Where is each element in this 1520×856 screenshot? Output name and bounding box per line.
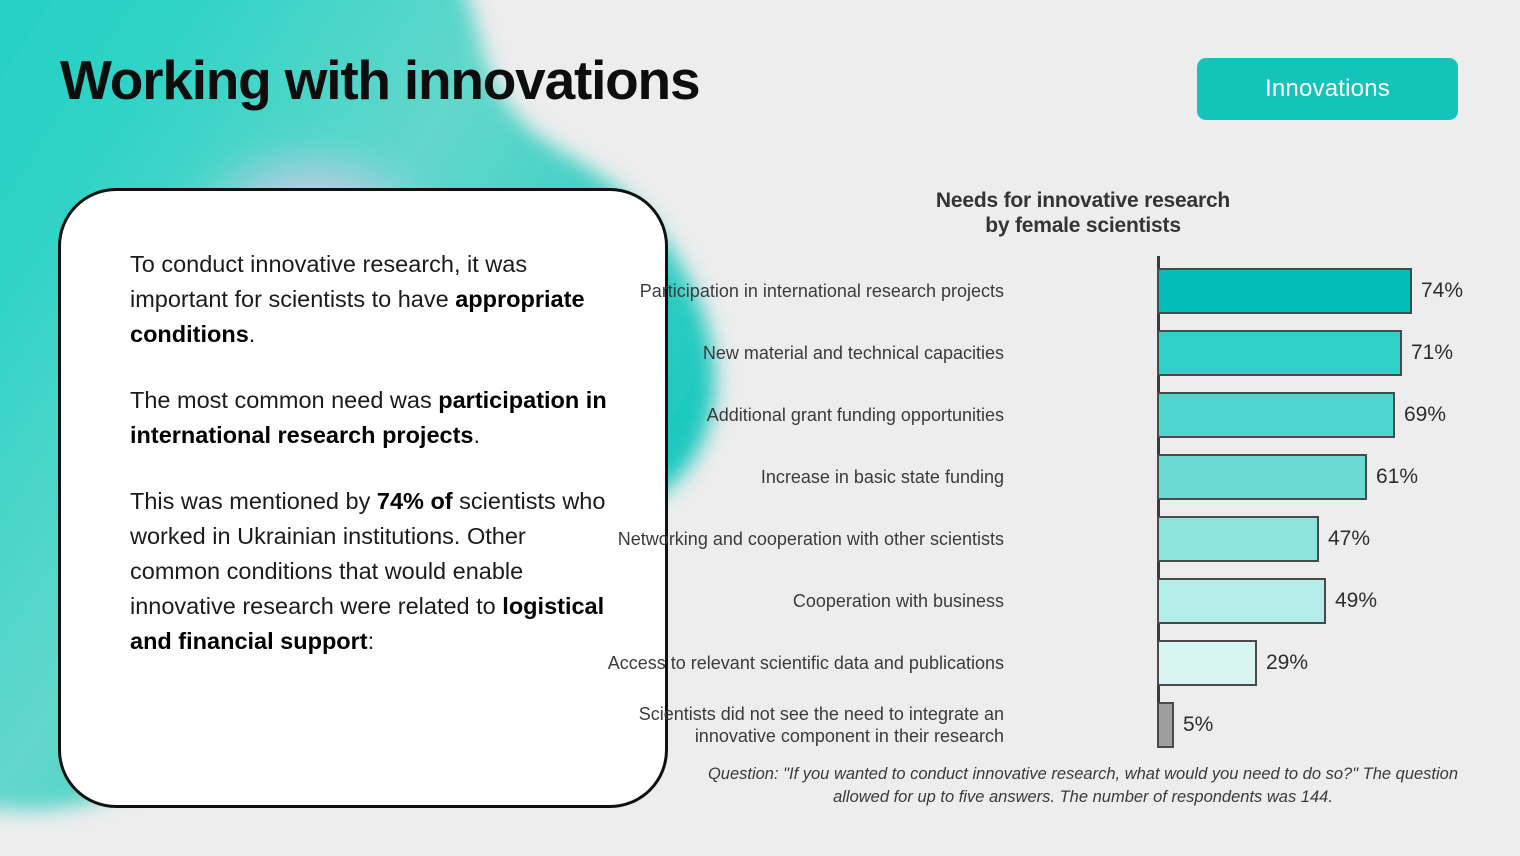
chart-category-label: Participation in international research … (640, 268, 1004, 314)
chart-bar (1157, 330, 1402, 376)
chart-title-line-2: by female scientists (688, 213, 1478, 238)
p3-bold: 74% of (377, 488, 453, 514)
p3-pre: This was mentioned by (130, 488, 377, 514)
chart-category-label: Additional grant funding opportunities (707, 392, 1004, 438)
chart-bar (1157, 702, 1174, 748)
chart-plot-area: Participation in international research … (688, 256, 1478, 746)
chart-bar (1157, 268, 1412, 314)
chart-bar-value: 49% (1326, 578, 1377, 624)
p2-post: . (473, 422, 480, 448)
chart-bar-value: 47% (1319, 516, 1370, 562)
chart-bar-value: 5% (1174, 702, 1213, 748)
chart-bar (1157, 516, 1319, 562)
badge-label: Innovations (1265, 75, 1390, 103)
chart-category-label: Cooperation with business (793, 578, 1004, 624)
page-title: Working with innovations (60, 52, 699, 110)
chart-category-label: Scientists did not see the need to integ… (574, 702, 1004, 748)
chart-footnote: Question: "If you wanted to conduct inno… (688, 763, 1478, 809)
chart-bar (1157, 640, 1257, 686)
chart-title: Needs for innovative research by female … (688, 183, 1478, 238)
chart-bar-value: 29% (1257, 640, 1308, 686)
chart-bar (1157, 454, 1367, 500)
chart-bar-value: 69% (1395, 392, 1446, 438)
p3-post: : (368, 628, 375, 654)
slide: Working with innovations Innovations To … (0, 0, 1520, 856)
card-body: To conduct innovative research, it was i… (130, 247, 621, 659)
card-paragraph-2: The most common need was participation i… (130, 383, 621, 453)
chart-category-label: New material and technical capacities (703, 330, 1004, 376)
status-badge: Innovations (1197, 58, 1458, 120)
p2-pre: The most common need was (130, 387, 438, 413)
card-paragraph-3: This was mentioned by 74% of scientists … (130, 484, 621, 659)
p1-post: . (249, 321, 256, 347)
chart-category-label: Increase in basic state funding (761, 454, 1004, 500)
chart-category-label: Access to relevant scientific data and p… (608, 640, 1004, 686)
chart-bar (1157, 392, 1395, 438)
chart-bar-value: 61% (1367, 454, 1418, 500)
bar-chart: Needs for innovative research by female … (688, 183, 1478, 823)
chart-title-line-1: Needs for innovative research (688, 188, 1478, 213)
chart-category-label: Networking and cooperation with other sc… (618, 516, 1004, 562)
chart-bar-value: 74% (1412, 268, 1463, 314)
chart-bar-value: 71% (1402, 330, 1453, 376)
chart-bar (1157, 578, 1326, 624)
card-paragraph-1: To conduct innovative research, it was i… (130, 247, 621, 352)
